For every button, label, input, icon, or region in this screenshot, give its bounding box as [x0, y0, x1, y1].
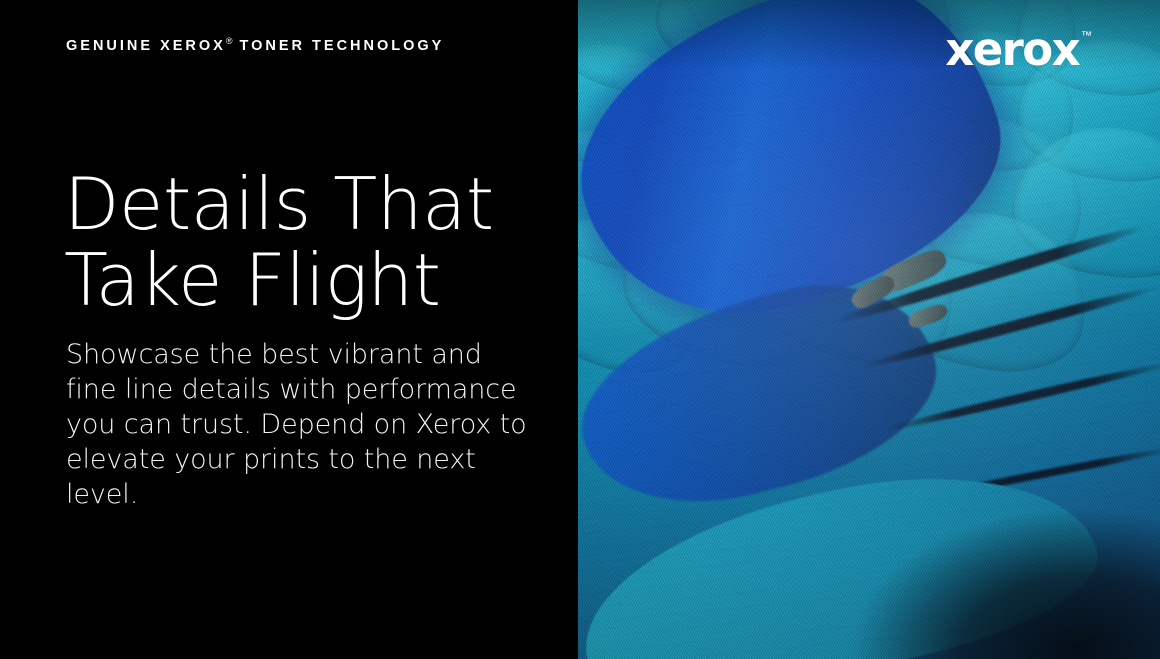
copy-panel: GENUINE XEROX® TONER TECHNOLOGY Details … [0, 0, 578, 659]
xerox-logo: xerox ™ [945, 27, 1092, 72]
eyebrow-text-after: TONER TECHNOLOGY [240, 38, 445, 54]
macaw-feather-photo: xerox ™ [578, 0, 1160, 659]
eyebrow-text: GENUINE XEROX® TONER TECHNOLOGY [66, 36, 444, 54]
registered-trademark-symbol: ® [226, 36, 233, 46]
xerox-wordmark: xerox [945, 27, 1079, 72]
subcopy-text: Showcase the best vibrant and fine line … [66, 337, 536, 512]
trademark-icon: ™ [1081, 31, 1092, 42]
photo-corner-shadow [840, 479, 1160, 659]
xerox-toner-banner: GENUINE XEROX® TONER TECHNOLOGY Details … [0, 0, 1160, 659]
page-title: Details That Take Flight [64, 166, 564, 318]
eyebrow-text-before: GENUINE XEROX [66, 38, 226, 54]
